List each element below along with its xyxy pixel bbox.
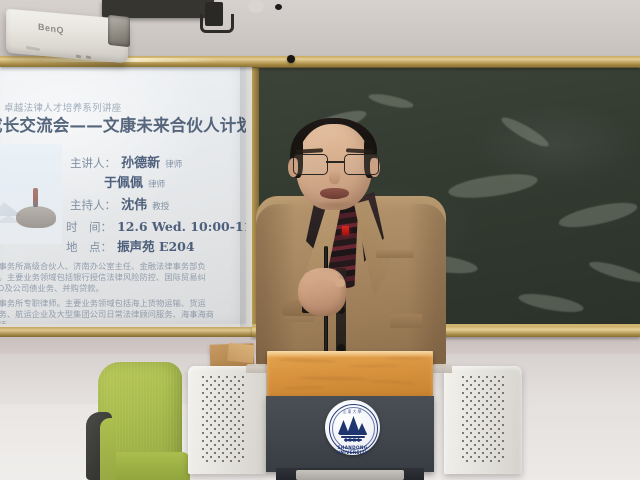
projector-mount-hole <box>248 0 264 13</box>
microphone-indicator-light <box>342 226 349 235</box>
coat-pocket-right <box>390 314 422 328</box>
speaker-name-2: 于佩佩 <box>104 176 143 191</box>
speaker-title: 律师 <box>165 160 182 170</box>
speaker-grille-left <box>202 376 248 464</box>
loudspeaker-right <box>444 366 522 474</box>
speaker-label: 主讲人： <box>70 156 116 170</box>
loudspeaker-left <box>188 366 266 474</box>
emblem-name: SHANDONG UNIVERSITY <box>325 445 380 455</box>
cardboard-box-flap <box>227 343 255 364</box>
host-label: 主持人： <box>70 198 116 212</box>
slide-text-block: 卓越法律人才培养系列讲座 成长交流会——文康未来合伙人计划 主讲人： 孙德新 律… <box>0 66 246 324</box>
glasses-lens-right <box>344 154 379 175</box>
screen-right-shadow <box>240 62 252 330</box>
trim-mount-dot <box>287 55 295 63</box>
projector-brand-label: BenQ <box>38 22 64 36</box>
projector-bracket <box>200 14 234 33</box>
speaker-title-2: 律师 <box>148 180 165 190</box>
glasses-bridge <box>326 161 344 163</box>
emblem-mountain-icon <box>338 416 368 434</box>
slide-row-speaker-1: 主讲人： 孙德新 律师 <box>70 152 182 171</box>
projector-led-1 <box>76 55 81 59</box>
bio-line-6: 律英语。 <box>0 319 15 324</box>
emblem-chinese-name: 山東大學 <box>325 409 380 415</box>
shandong-university-emblem: 山東大學 1901 SHANDONG UNIVERSITY <box>325 400 380 455</box>
coat-shadow-right <box>408 204 446 364</box>
projection-screen: 卓越法律人才培养系列讲座 成长交流会——文康未来合伙人计划 主讲人： 孙德新 律… <box>0 66 246 324</box>
slide-title: 成长交流会——文康未来合伙人计划 <box>0 112 246 136</box>
place-label: 地 点： <box>66 240 112 254</box>
podium-foot-rail <box>296 470 404 480</box>
speaker-person <box>258 118 444 363</box>
mouth <box>320 188 349 199</box>
bio-line-5: 律事务、航运企业及大型集团公司日常法律顾问服务、海事海商 <box>0 308 214 320</box>
speaker-grille-right <box>462 376 508 464</box>
bio-line-3: 、IPO及公司债业务、并购贷款。 <box>0 282 104 294</box>
host-name: 沈伟 <box>121 198 147 213</box>
nose <box>329 170 340 184</box>
slide-row-speaker-2: 于佩佩 律师 <box>104 172 165 191</box>
lecture-hall-photo: 卓越法律人才培养系列讲座 成长交流会——文康未来合伙人计划 主讲人： 孙德新 律… <box>0 0 640 480</box>
projector-led-2 <box>86 55 91 59</box>
podium-top-highlight <box>267 351 433 358</box>
hand <box>298 268 346 316</box>
time-label: 时 间： <box>66 220 112 234</box>
ceiling-trim-highlight <box>40 58 220 62</box>
slide-row-time: 时 间： 12.6 Wed. 10:00-11:30 <box>66 216 246 235</box>
glasses-lens-left <box>293 154 328 175</box>
screen-bottom-trim <box>0 327 252 337</box>
place-value: 振声苑 E204 <box>117 239 194 254</box>
coat-shadow-left <box>256 204 296 364</box>
loudspeaker-left-top-cap <box>246 364 268 373</box>
emblem-year: 1901 <box>325 438 380 444</box>
projector-vent <box>26 46 40 51</box>
host-title: 教授 <box>152 202 169 212</box>
coat-chest-pocket <box>376 250 414 258</box>
chin-shadow <box>312 200 358 210</box>
slide-row-place: 地 点： 振声苑 E204 <box>66 236 195 255</box>
speaker-name: 孙德新 <box>121 156 160 171</box>
loudspeaker-right-top-cap <box>432 364 452 373</box>
chair-armrest-inner <box>100 418 116 480</box>
projector-lens <box>108 15 130 47</box>
slide-row-host: 主持人： 沈伟 教授 <box>70 194 169 213</box>
time-value: 12.6 Wed. 10:00-11:30 <box>117 219 246 234</box>
ceiling-sensor-dot <box>275 4 282 10</box>
